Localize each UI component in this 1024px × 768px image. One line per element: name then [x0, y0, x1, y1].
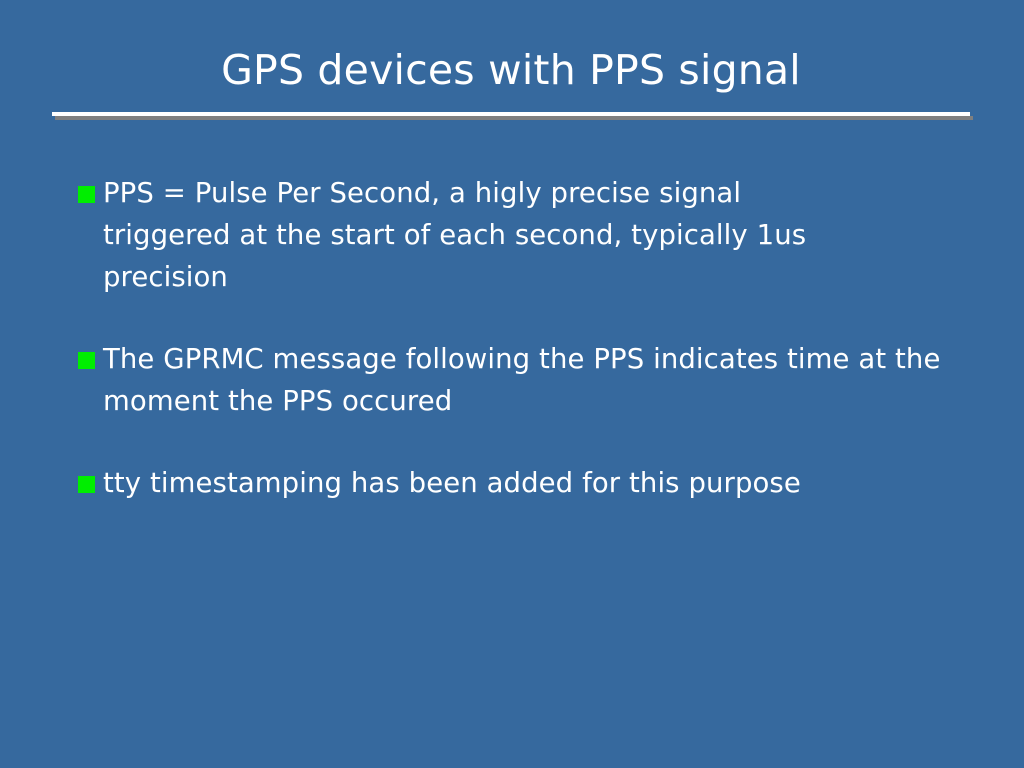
- green-square-bullet-icon: [78, 476, 95, 493]
- title-divider-line: [52, 112, 970, 116]
- page-title: GPS devices with PPS signal: [52, 44, 970, 96]
- list-item-label: PPS = Pulse Per Second, a higly precise …: [103, 172, 838, 298]
- list-item-label: The GPRMC message following the PPS indi…: [103, 338, 948, 422]
- title-divider-shadow: [55, 116, 973, 120]
- presentation-slide: GPS devices with PPS signal PPS = Pulse …: [0, 0, 1024, 768]
- list-item: tty timestamping has been added for this…: [72, 462, 972, 504]
- list-item: The GPRMC message following the PPS indi…: [72, 338, 972, 422]
- green-square-bullet-icon: [78, 352, 95, 369]
- green-square-bullet-icon: [78, 186, 95, 203]
- list-item: PPS = Pulse Per Second, a higly precise …: [72, 172, 972, 298]
- list-item-label: tty timestamping has been added for this…: [103, 462, 963, 504]
- bullet-list: PPS = Pulse Per Second, a higly precise …: [72, 172, 972, 504]
- title-divider: [52, 112, 970, 122]
